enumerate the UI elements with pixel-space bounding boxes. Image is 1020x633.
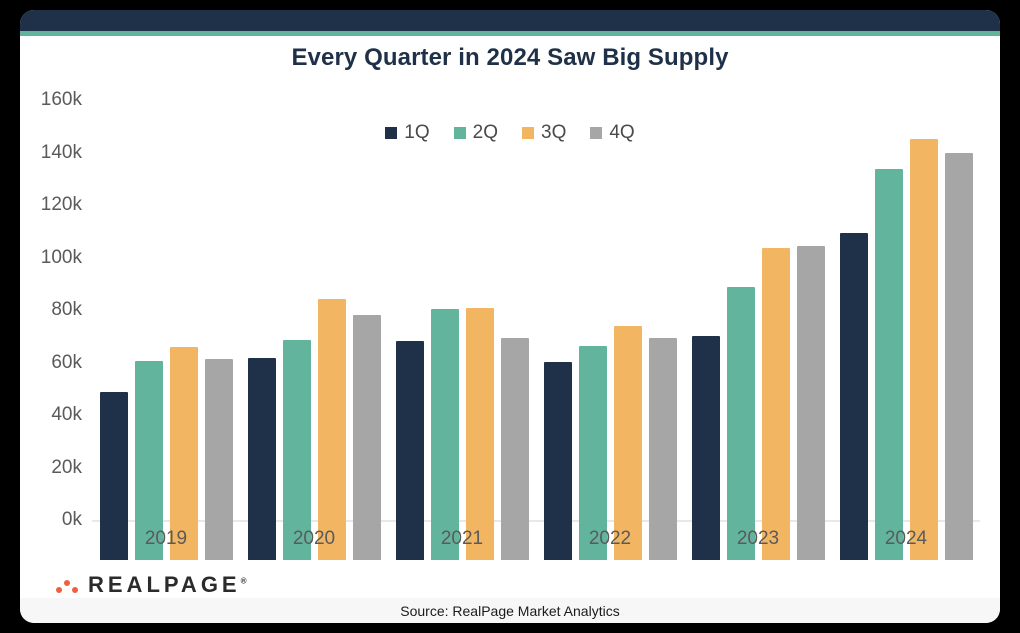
bar-group-2021 bbox=[388, 140, 536, 560]
y-axis-tick-label: 140k bbox=[41, 142, 82, 164]
x-axis-tick-label: 2019 bbox=[145, 528, 187, 550]
bar-2024-2q[interactable] bbox=[875, 169, 903, 560]
x-axis-tick-label: 2021 bbox=[441, 528, 483, 550]
bar-2024-4q[interactable] bbox=[945, 153, 973, 560]
chart-title: Every Quarter in 2024 Saw Big Supply bbox=[20, 44, 1000, 72]
bar-2024-1q[interactable] bbox=[840, 233, 868, 560]
bar-2021-3q[interactable] bbox=[466, 308, 494, 560]
y-axis-tick-label: 120k bbox=[41, 194, 82, 216]
bar-2022-4q[interactable] bbox=[649, 338, 677, 560]
bar-group-2019 bbox=[92, 140, 240, 560]
y-axis-tick-label: 160k bbox=[41, 89, 82, 111]
realpage-dots-icon bbox=[56, 576, 80, 594]
bar-2020-3q[interactable] bbox=[318, 299, 346, 560]
bar-group-2023 bbox=[684, 140, 832, 560]
bar-2023-1q[interactable] bbox=[692, 336, 720, 560]
realpage-trademark: ® bbox=[241, 577, 247, 586]
x-axis-tick-label: 2023 bbox=[737, 528, 779, 550]
y-axis-tick-label: 80k bbox=[51, 299, 82, 321]
bar-2020-4q[interactable] bbox=[353, 315, 381, 560]
bar-2023-3q[interactable] bbox=[762, 248, 790, 560]
realpage-logo: REALPAGE® bbox=[56, 572, 247, 598]
y-axis-tick-label: 20k bbox=[51, 457, 82, 479]
realpage-wordmark: REALPAGE® bbox=[88, 572, 247, 598]
x-axis: 201920202021202220232024 bbox=[92, 528, 980, 568]
x-axis-tick-label: 2024 bbox=[885, 528, 927, 550]
y-axis-tick-label: 100k bbox=[41, 247, 82, 269]
bar-group-2024 bbox=[832, 140, 980, 560]
y-axis-tick-label: 60k bbox=[51, 352, 82, 374]
y-axis-tick-label: 40k bbox=[51, 404, 82, 426]
y-axis: 160k140k120k100k80k60k40k20k0k bbox=[20, 100, 92, 560]
bar-2024-3q[interactable] bbox=[910, 139, 938, 560]
chart-plot-area: 1Q2Q3Q4Q 160k140k120k100k80k60k40k20k0k … bbox=[20, 100, 1000, 560]
bar-group-2020 bbox=[240, 140, 388, 560]
chart-card: Every Quarter in 2024 Saw Big Supply 1Q2… bbox=[20, 10, 1000, 623]
x-axis-tick-label: 2022 bbox=[589, 528, 631, 550]
realpage-wordmark-text: REALPAGE bbox=[88, 572, 241, 597]
bar-2022-3q[interactable] bbox=[614, 326, 642, 560]
bar-2020-2q[interactable] bbox=[283, 340, 311, 561]
source-bar: Source: RealPage Market Analytics bbox=[20, 598, 1000, 623]
card-accent-stripe bbox=[20, 31, 1000, 36]
bar-2021-2q[interactable] bbox=[431, 309, 459, 560]
bar-2021-4q[interactable] bbox=[501, 338, 529, 560]
y-axis-tick-label: 0k bbox=[62, 509, 82, 531]
source-text: Source: RealPage Market Analytics bbox=[400, 603, 619, 619]
x-axis-tick-label: 2020 bbox=[293, 528, 335, 550]
screenshot-root: Every Quarter in 2024 Saw Big Supply 1Q2… bbox=[0, 0, 1020, 633]
card-top-bar bbox=[20, 10, 1000, 31]
bars-container bbox=[92, 100, 980, 560]
bar-2023-2q[interactable] bbox=[727, 287, 755, 560]
bar-2023-4q[interactable] bbox=[797, 246, 825, 560]
bar-group-2022 bbox=[536, 140, 684, 560]
